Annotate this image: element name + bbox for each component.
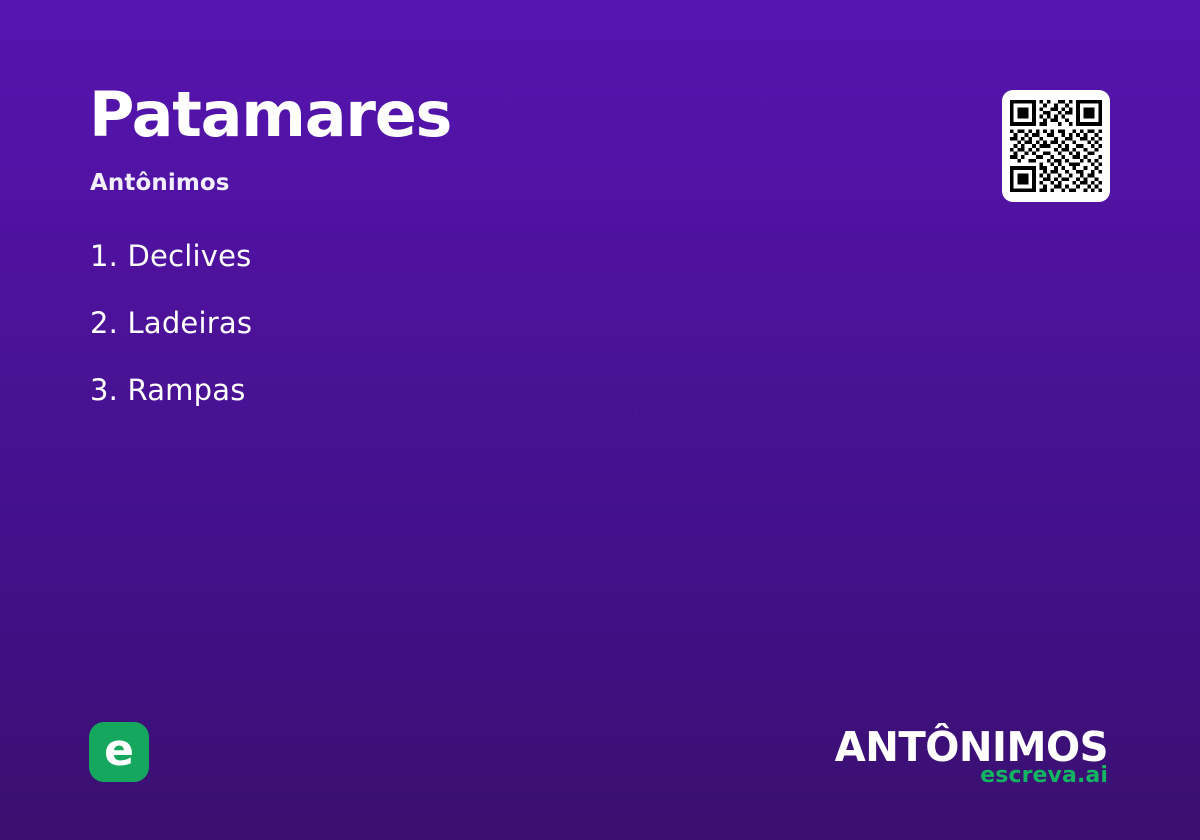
antonym-list: 1. Declives 2. Ladeiras 3. Rampas (90, 238, 710, 439)
list-item: 3. Rampas (90, 372, 710, 408)
list-item-number: 2. (90, 306, 118, 340)
list-item-word: Rampas (128, 373, 246, 407)
qr-code-icon (1010, 100, 1102, 192)
list-item-number: 1. (90, 239, 118, 273)
page-title: Patamares (89, 84, 451, 146)
brand-lockup: ANTÔNIMOS escreva.ai (829, 727, 1108, 788)
list-item: 1. Declives (90, 238, 710, 274)
escreva-e-letter: e (104, 729, 134, 773)
page-subtitle: Antônimos (90, 170, 230, 196)
list-item-number: 3. (90, 373, 118, 407)
qr-code-card[interactable] (1002, 90, 1110, 202)
antonyms-card: Patamares Antônimos 1. Declives 2. Ladei… (0, 0, 1200, 840)
brand-name: ANTÔNIMOS (834, 727, 1108, 767)
list-item-word: Ladeiras (128, 306, 253, 340)
escreva-e-icon[interactable]: e (89, 722, 149, 782)
list-item: 2. Ladeiras (90, 305, 710, 341)
list-item-word: Declives (128, 239, 252, 273)
